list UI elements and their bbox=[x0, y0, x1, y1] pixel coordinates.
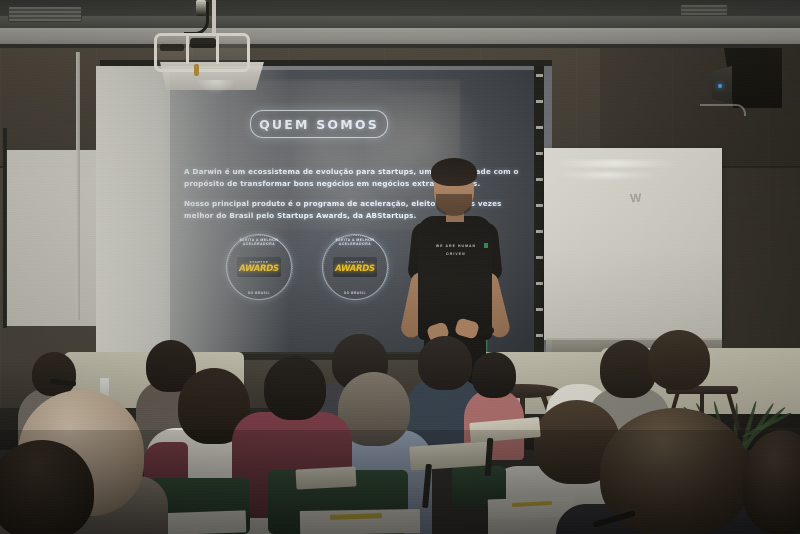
wall-speaker bbox=[724, 48, 782, 108]
audience-head bbox=[418, 336, 472, 390]
presenter-hair bbox=[431, 158, 477, 186]
projector-cage-divider bbox=[186, 36, 189, 64]
award-badge: ELEITA A MELHOR ACELERADORA DO BRASIL ST… bbox=[322, 234, 388, 300]
presenter-beard bbox=[436, 194, 472, 216]
projector-cage-divider bbox=[216, 36, 219, 64]
award-badge-logo-word: AWARDS bbox=[239, 264, 279, 274]
award-badge-logo: STARTUP AWARDS bbox=[333, 257, 377, 277]
presenter-torso bbox=[418, 216, 492, 340]
whiteboard-glare bbox=[556, 160, 674, 167]
audience-head bbox=[472, 352, 516, 398]
whiteboard-glare bbox=[560, 172, 656, 178]
audience-head bbox=[554, 344, 602, 394]
speaker-power-led-icon bbox=[718, 84, 722, 88]
projector-mount-stem bbox=[212, 0, 216, 36]
award-badge-ring-bottom-text: DO BRASIL bbox=[229, 291, 289, 295]
screen-tension-tabs bbox=[536, 74, 543, 346]
left-black-pole bbox=[3, 128, 7, 328]
award-badge-logo-word: AWARDS bbox=[335, 264, 375, 274]
presenter-shirt-text: WE ARE HUMAN DRIVEN bbox=[426, 242, 486, 250]
projector-plug-icon bbox=[196, 0, 206, 16]
award-badge-logo: STARTUP AWARDS bbox=[237, 257, 281, 277]
audience-head bbox=[264, 356, 326, 420]
left-pipe-elbow bbox=[60, 314, 86, 324]
presenter-shirt-logo-icon bbox=[484, 243, 488, 248]
slide-title-text: QUEM SOMOS bbox=[259, 117, 379, 132]
projector-lens-glow bbox=[196, 80, 236, 94]
whiteboard-scrawl: W bbox=[630, 189, 671, 206]
award-badge: ELEITA A MELHOR ACELERADORA DO BRASIL ST… bbox=[226, 234, 292, 300]
audience-head bbox=[32, 352, 76, 396]
tablet-arm-desk bbox=[296, 466, 357, 489]
projector-brass-screw bbox=[194, 64, 199, 76]
award-badge-ring-bottom-text: DO BRASIL bbox=[325, 291, 385, 295]
speaker-wire bbox=[700, 104, 746, 116]
notebook-paper bbox=[300, 509, 420, 534]
wall-speaker-face bbox=[712, 66, 732, 104]
left-white-pipe bbox=[76, 52, 80, 320]
ceiling-vent-icon bbox=[8, 6, 82, 22]
audience-head bbox=[648, 330, 710, 390]
projector-inner-unit bbox=[190, 38, 216, 48]
ceiling-vent-secondary-icon bbox=[680, 4, 728, 16]
slide-title-badge: QUEM SOMOS bbox=[250, 110, 388, 138]
left-wall-panel bbox=[6, 150, 98, 326]
projector-inner-unit-secondary bbox=[160, 44, 184, 51]
ceiling-strip bbox=[0, 16, 800, 28]
photo-scene: QUEM SOMOS A Darwin é um ecossistema de … bbox=[0, 0, 800, 534]
